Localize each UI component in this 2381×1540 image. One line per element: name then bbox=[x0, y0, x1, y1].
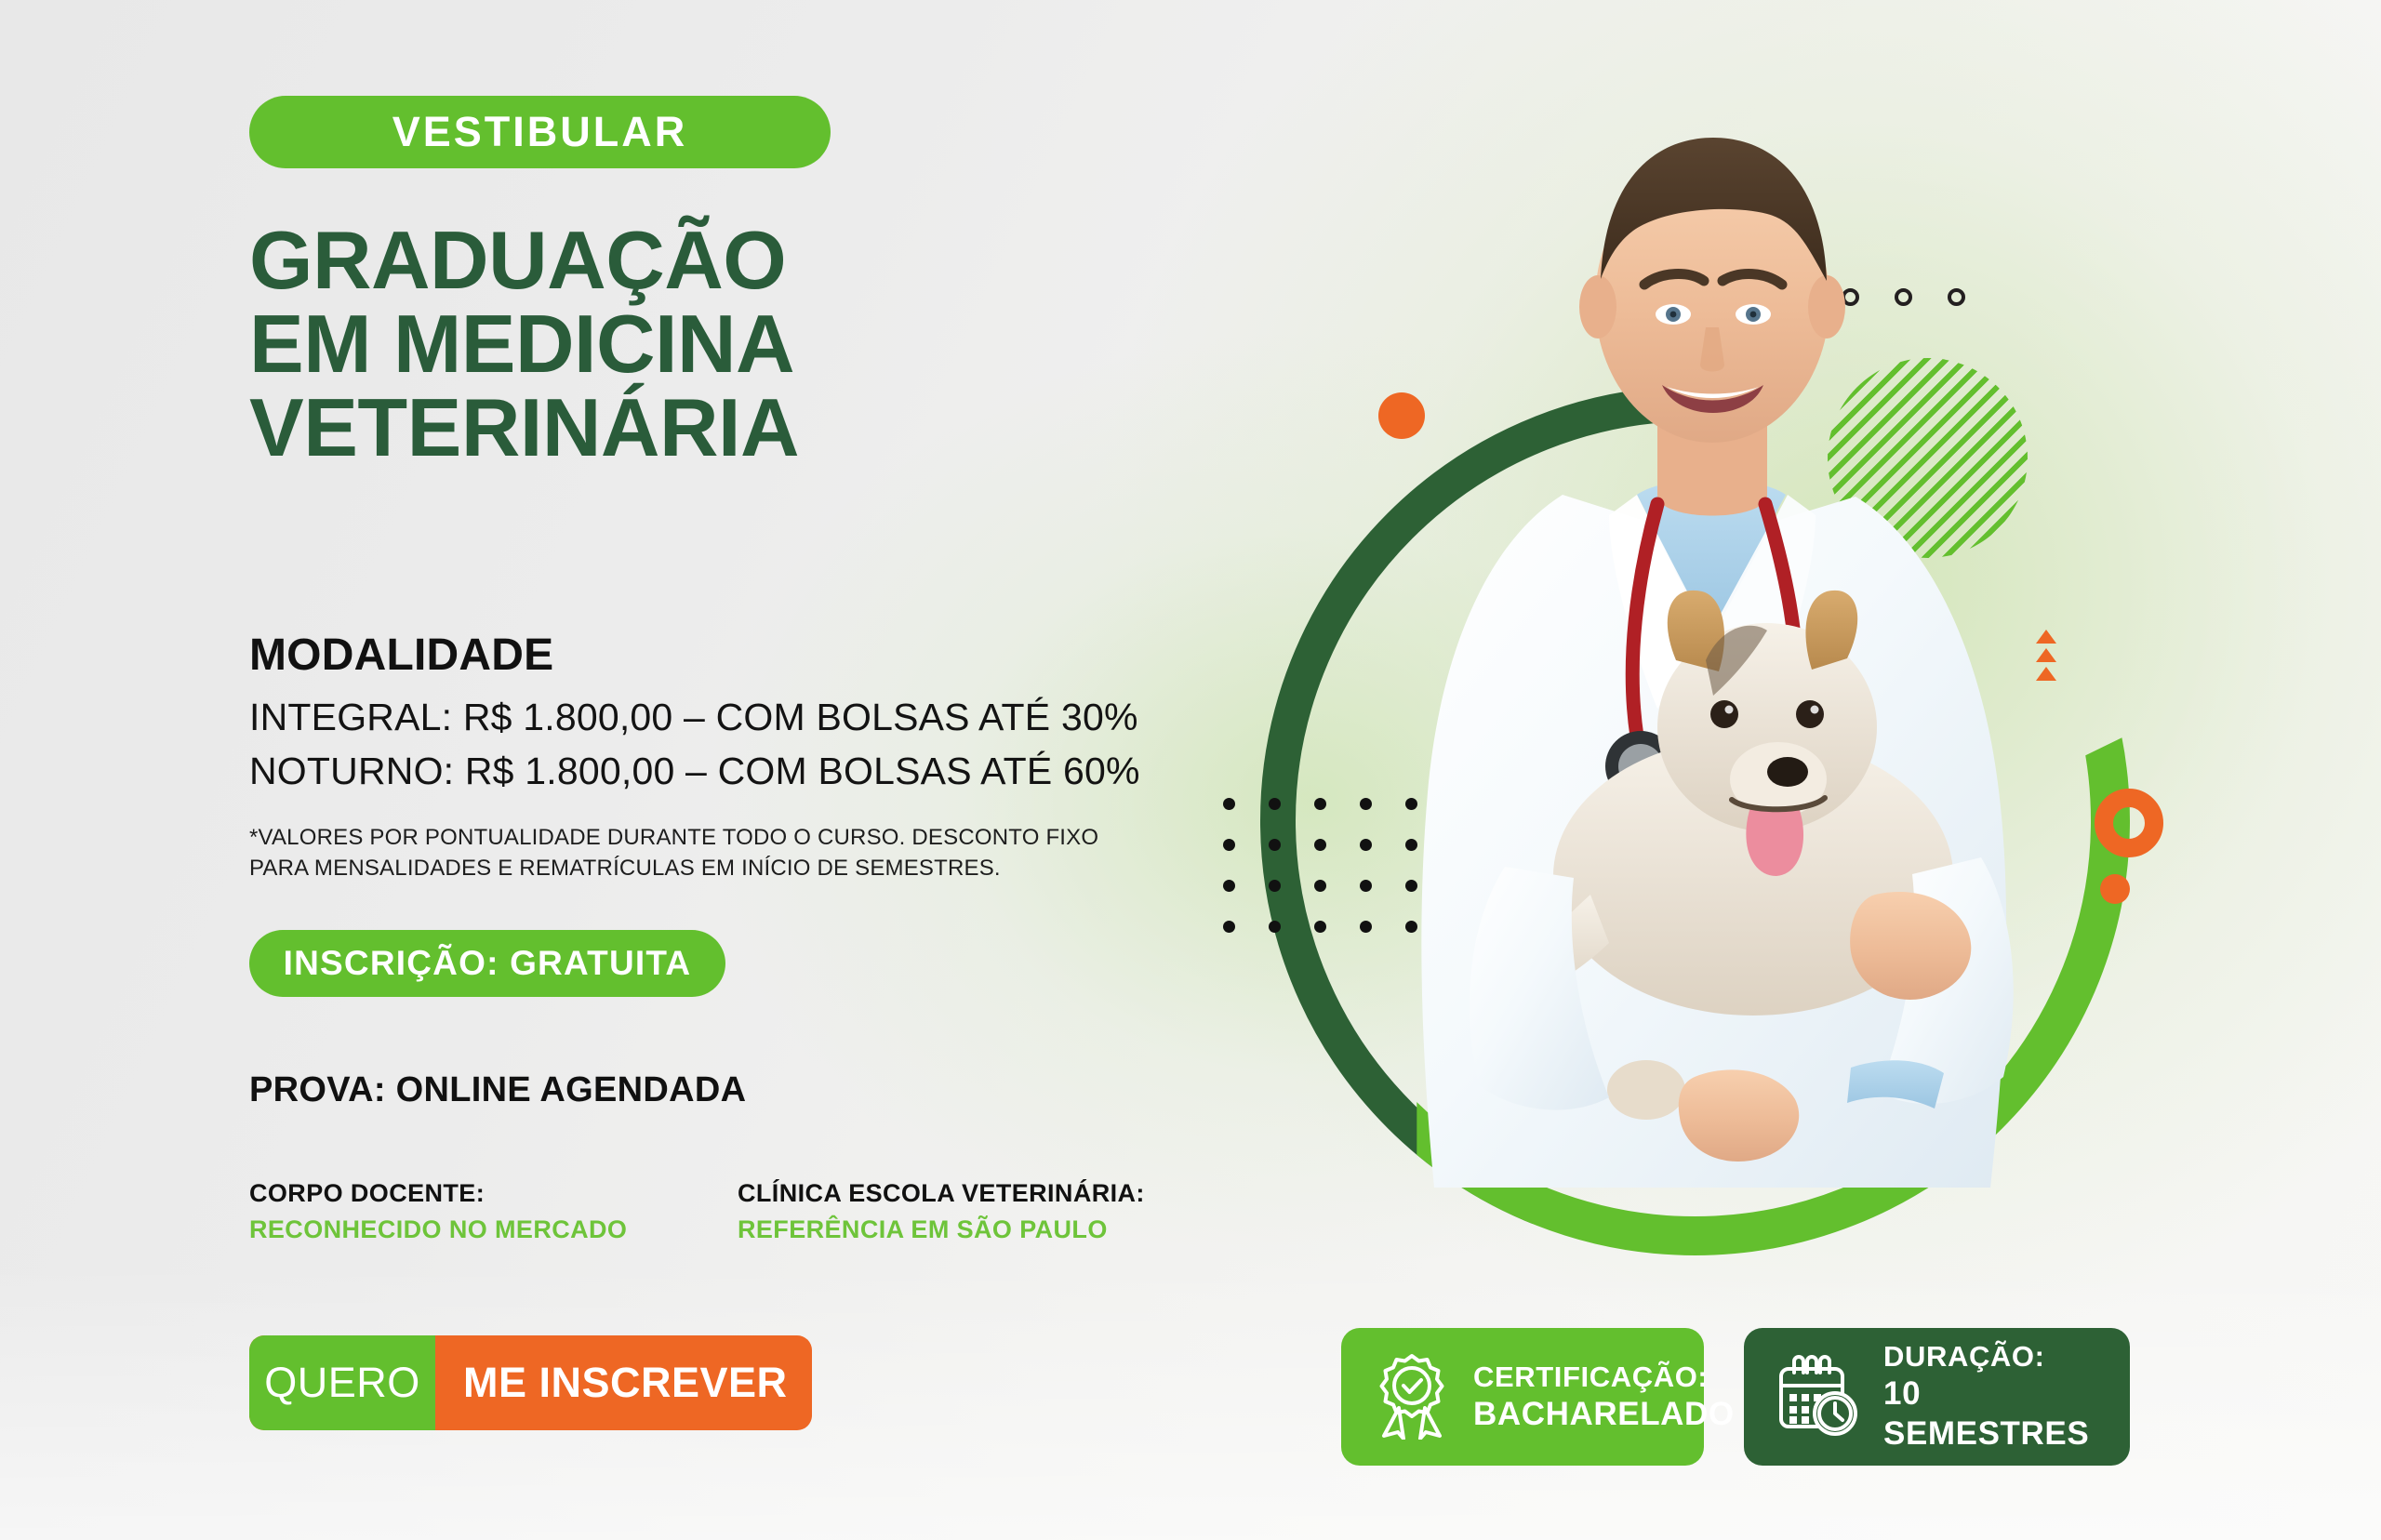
quero-me-inscrever-button[interactable]: QUERO ME INSCREVER bbox=[249, 1335, 812, 1430]
calendar-clock-icon bbox=[1776, 1352, 1861, 1442]
price-disclaimer: *VALORES POR PONTUALIDADE DURANTE TODO O… bbox=[249, 822, 1105, 883]
feature-clinica-escola-value: REFERÊNCIA EM SÃO PAULO bbox=[738, 1212, 1145, 1248]
duracao-badge: DURAÇÃO: 10 SEMESTRES bbox=[1744, 1328, 2130, 1466]
feature-corpo-docente-label: CORPO DOCENTE: bbox=[249, 1175, 627, 1212]
page-title: GRADUAÇÃO EM MEDICINA VETERINÁRIA bbox=[249, 219, 799, 469]
orange-small-dot-decoration bbox=[2100, 874, 2130, 904]
feature-corpo-docente: CORPO DOCENTE: RECONHECIDO NO MERCADO bbox=[249, 1175, 627, 1248]
modalidade-heading: MODALIDADE bbox=[249, 630, 553, 681]
certificacao-label: CERTIFICAÇÃO: bbox=[1473, 1360, 1735, 1395]
content-column: VESTIBULAR GRADUAÇÃO EM MEDICINA VETERIN… bbox=[249, 0, 1272, 1540]
duracao-value: 10 SEMESTRES bbox=[1883, 1374, 2098, 1454]
cta-main-label: ME INSCREVER bbox=[435, 1335, 812, 1430]
orange-ring-decoration bbox=[2095, 789, 2163, 857]
feature-clinica-escola-label: CLÍNICA ESCOLA VETERINÁRIA: bbox=[738, 1175, 1145, 1212]
page-title-line-2: EM MEDICINA bbox=[249, 302, 799, 386]
feature-corpo-docente-value: RECONHECIDO NO MERCADO bbox=[249, 1212, 627, 1248]
cta-prefix-label: QUERO bbox=[249, 1335, 435, 1430]
price-noturno: NOTURNO: R$ 1.800,00 – COM BOLSAS ATÉ 60… bbox=[249, 750, 1140, 793]
price-integral: INTEGRAL: R$ 1.800,00 – COM BOLSAS ATÉ 3… bbox=[249, 696, 1138, 739]
page-title-line-3: VETERINÁRIA bbox=[249, 386, 799, 470]
duracao-text: DURAÇÃO: 10 SEMESTRES bbox=[1883, 1339, 2098, 1454]
certificacao-value: BACHARELADO bbox=[1473, 1395, 1735, 1435]
hero-visual-area bbox=[1209, 0, 2381, 1255]
certificacao-text: CERTIFICAÇÃO: BACHARELADO bbox=[1473, 1360, 1735, 1435]
duracao-label: DURAÇÃO: bbox=[1883, 1339, 2098, 1374]
inscricao-badge: INSCRIÇÃO: GRATUITA bbox=[249, 930, 725, 997]
feature-clinica-escola: CLÍNICA ESCOLA VETERINÁRIA: REFERÊNCIA E… bbox=[738, 1175, 1145, 1248]
certificacao-badge: CERTIFICAÇÃO: BACHARELADO bbox=[1341, 1328, 1704, 1466]
page-title-line-1: GRADUAÇÃO bbox=[249, 219, 799, 302]
veterinarian-holding-dog-photo bbox=[1330, 58, 2102, 1211]
prova-line: PROVA: ONLINE AGENDADA bbox=[249, 1070, 746, 1110]
disclaimer-line-1: *VALORES POR PONTUALIDADE DURANTE TODO O… bbox=[249, 822, 1105, 853]
award-ribbon-icon bbox=[1373, 1350, 1451, 1444]
disclaimer-line-2: PARA MENSALIDADES E REMATRÍCULAS EM INÍC… bbox=[249, 853, 1105, 883]
vestibular-badge: VESTIBULAR bbox=[249, 96, 831, 168]
